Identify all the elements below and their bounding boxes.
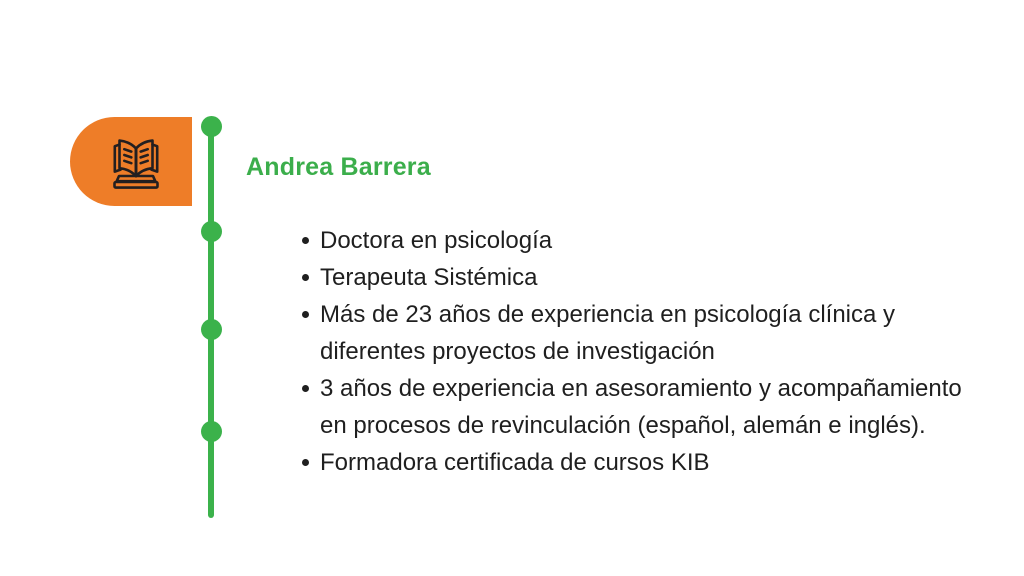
list-item: Más de 23 años de experiencia en psicolo… [275,296,975,370]
person-name: Andrea Barrera [246,152,966,182]
timeline-dot-2 [201,221,222,242]
list-item: Formadora certificada de cursos KIB [275,444,975,481]
icon-badge [70,117,192,206]
slide-canvas: Andrea Barrera Doctora en psicología Ter… [0,0,1024,576]
list-item-label: Más de 23 años de experiencia en psicolo… [320,301,895,365]
bullet-dot-icon [302,385,309,392]
list-item: Doctora en psicología [275,222,975,259]
bullet-dot-icon [302,274,309,281]
bullet-dot-icon [302,459,309,466]
open-book-icon [105,132,167,192]
profile-content: Andrea Barrera Doctora en psicología Ter… [246,152,966,182]
list-item-label: Terapeuta Sistémica [320,264,537,291]
bullet-dot-icon [302,237,309,244]
bullet-dot-icon [302,311,309,318]
timeline-dot-4 [201,421,222,442]
list-item-label: 3 años de experiencia en asesoramiento y… [320,375,962,439]
list-item-label: Doctora en psicología [320,227,552,254]
timeline-dot-1 [201,116,222,137]
list-item-label: Formadora certificada de cursos KIB [320,449,710,476]
credentials-list: Doctora en psicología Terapeuta Sistémic… [275,222,975,481]
list-item: Terapeuta Sistémica [275,259,975,296]
timeline-dot-3 [201,319,222,340]
list-item: 3 años de experiencia en asesoramiento y… [275,370,975,444]
